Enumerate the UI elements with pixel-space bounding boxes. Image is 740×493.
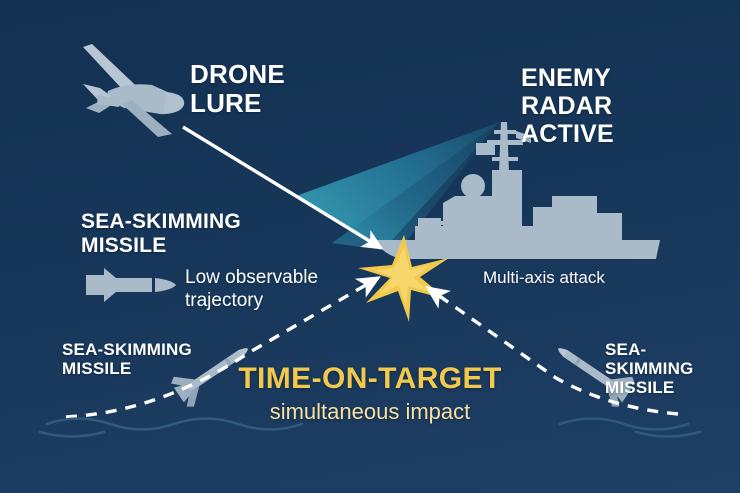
time-on-target-caption: TIME-ON-TARGET simultaneous impact: [0, 362, 740, 425]
enemy-radar-label-line3: ACTIVE: [521, 120, 614, 148]
enemy-radar-label-line2: RADAR: [521, 92, 614, 120]
simultaneous-impact-subtitle: simultaneous impact: [0, 399, 740, 425]
sea-skimming-top-label-line1: SEA-SKIMMING: [81, 210, 241, 234]
time-on-target-title: TIME-ON-TARGET: [0, 362, 740, 396]
sea-skimming-left-label-line1: SEA-SKIMMING: [62, 340, 192, 359]
drone-lure-label-line1: DRONE: [190, 60, 285, 89]
sea-skimming-top-label: SEA-SKIMMING MISSILE: [81, 210, 241, 257]
drone-lure-label-line2: LURE: [190, 89, 285, 118]
diagram-canvas: DRONE LURE ENEMY RADAR ACTIVE SEA-SKIMMI…: [0, 0, 740, 493]
drone-lure-label: DRONE LURE: [190, 60, 285, 118]
low-observable-label-line1: Low observable: [185, 267, 318, 290]
enemy-radar-label-line1: ENEMY: [521, 64, 614, 92]
low-observable-label-line2: trajectory: [185, 290, 318, 313]
missile-icon: [86, 268, 176, 302]
sea-skimming-top-label-line2: MISSILE: [81, 234, 241, 258]
sea-skimming-right-label-line1: SEA-: [605, 340, 693, 359]
low-observable-trajectory-label: Low observable trajectory: [185, 267, 318, 313]
enemy-radar-label: ENEMY RADAR ACTIVE: [521, 64, 614, 148]
multi-axis-attack-label: Multi-axis attack: [483, 268, 605, 288]
drone-icon: [83, 44, 184, 137]
